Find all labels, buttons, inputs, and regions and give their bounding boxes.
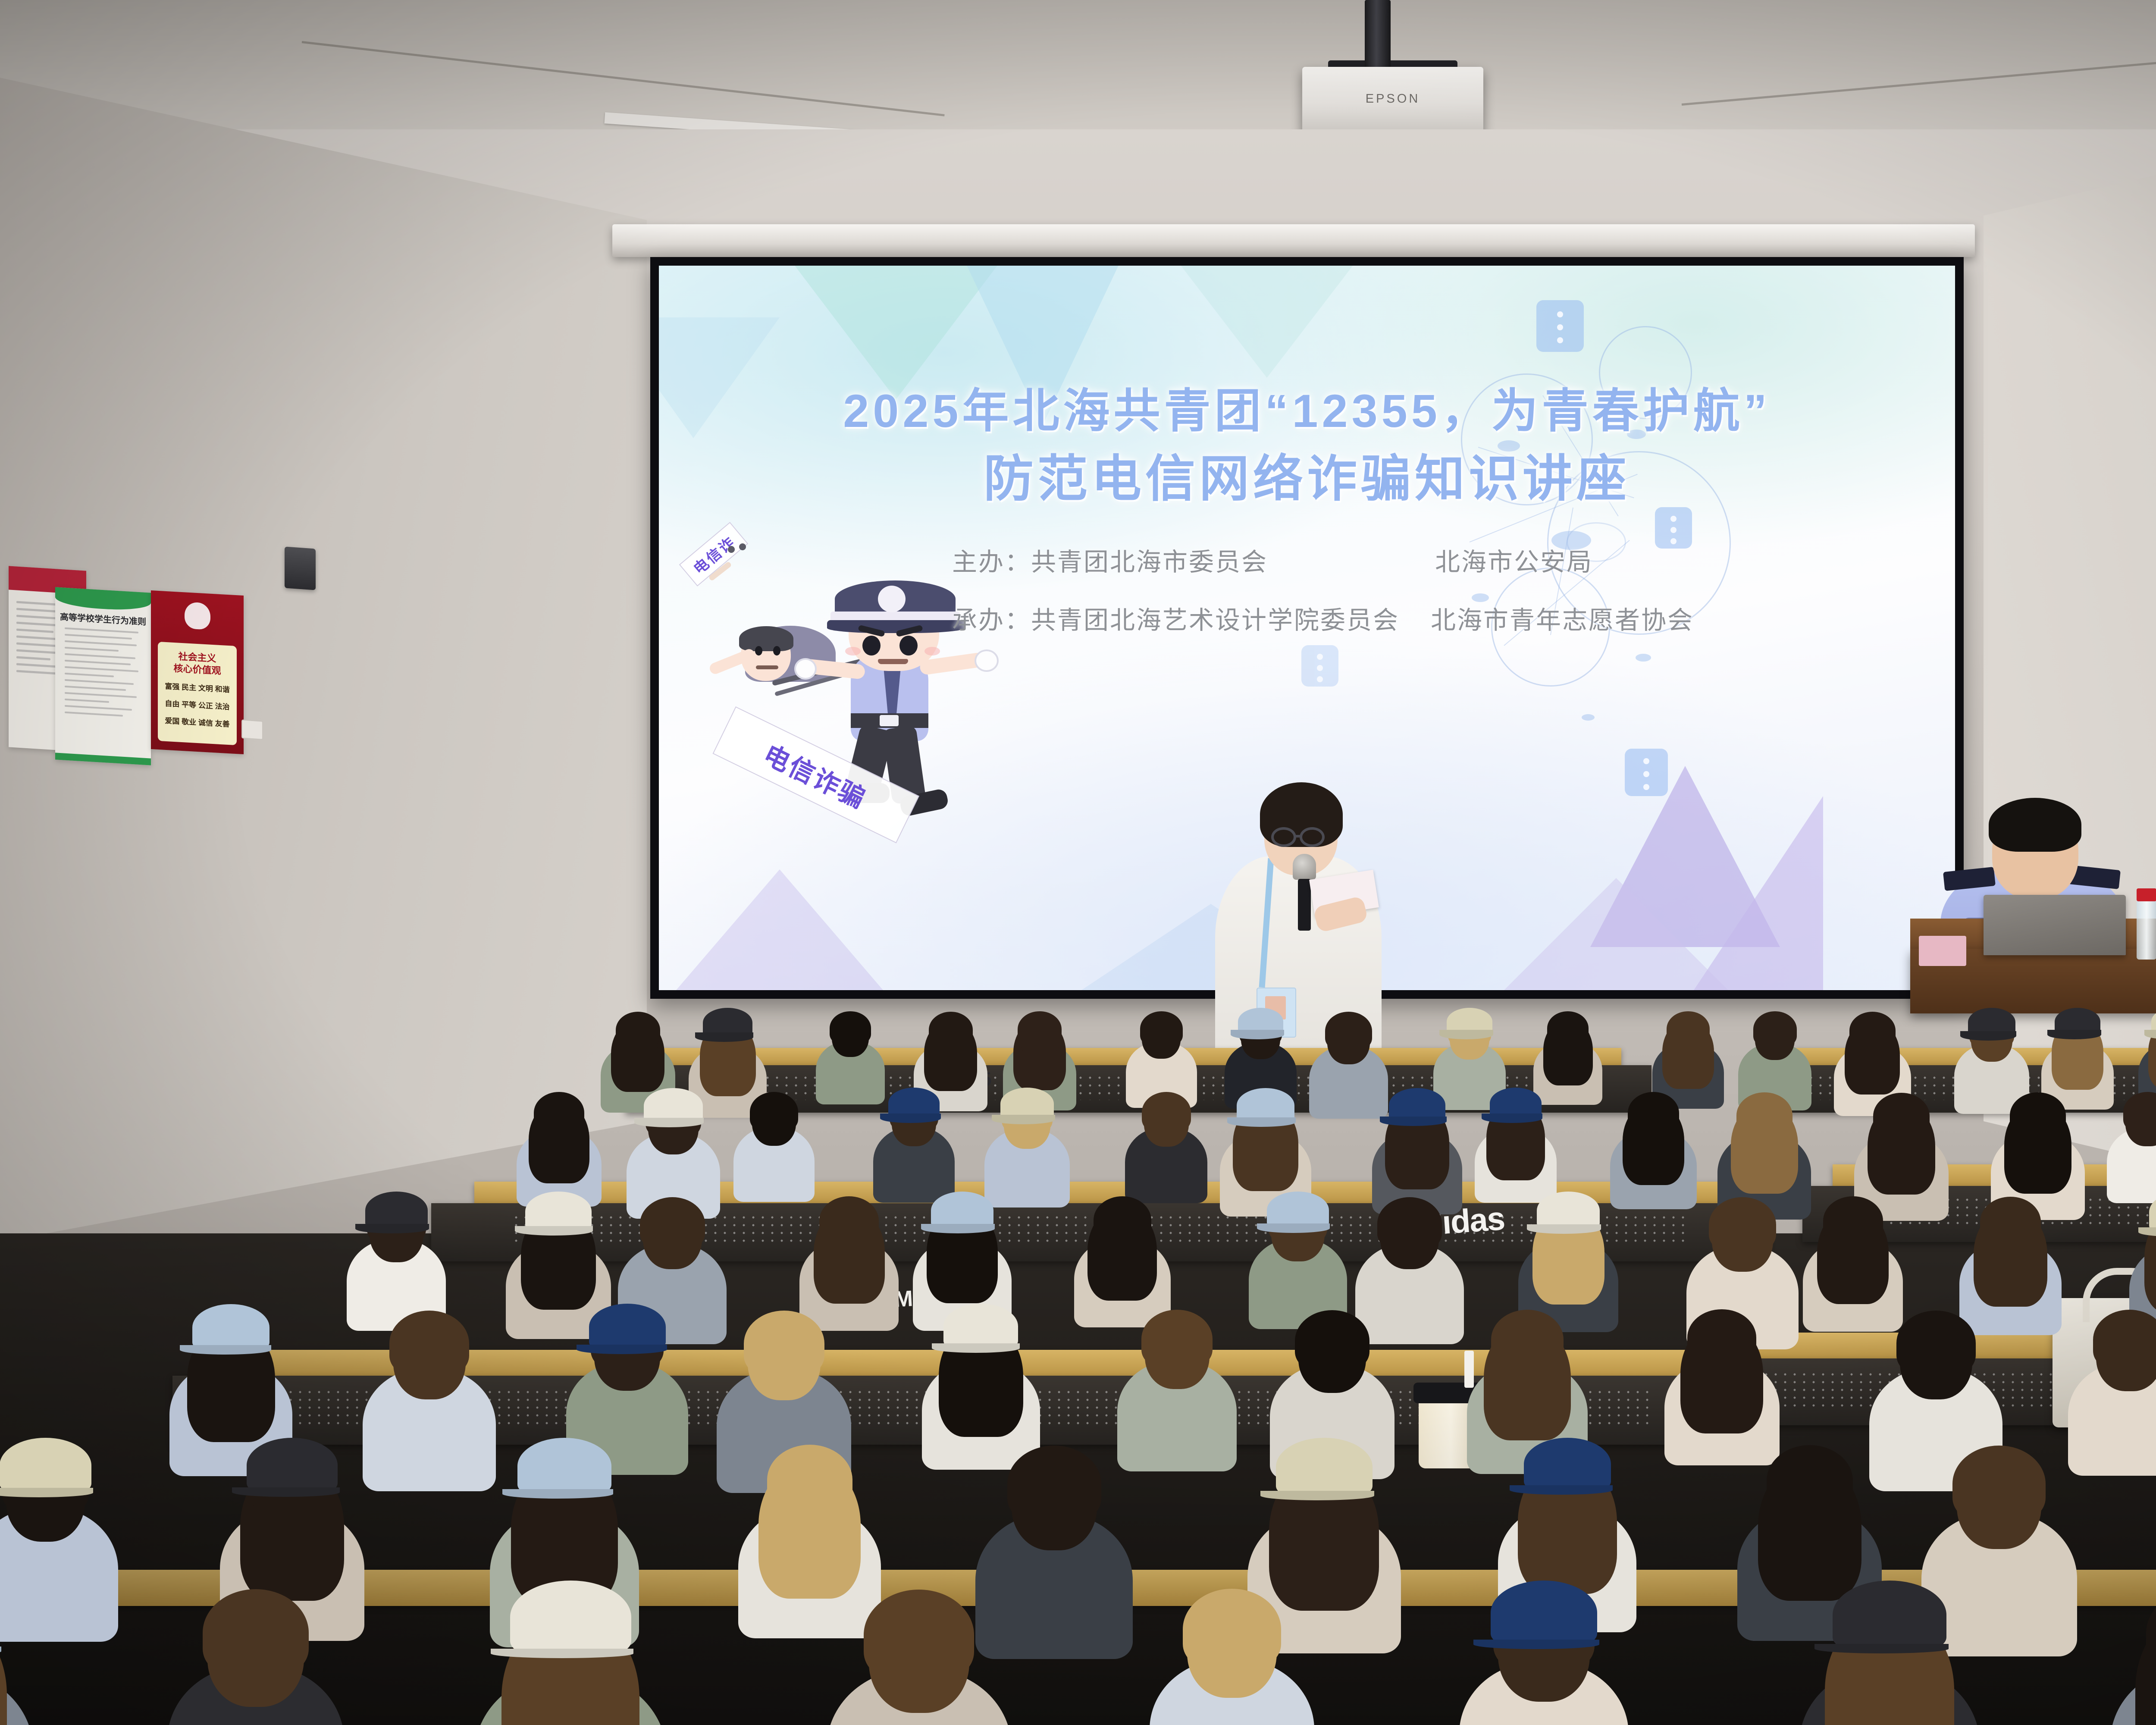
- slide-polygon-purple-3: [1504, 878, 1728, 990]
- audience-cap: [703, 1008, 752, 1038]
- host-glasses-bridge: [1295, 835, 1302, 837]
- poster-emblem-icon: [185, 602, 210, 630]
- audience-hair: [2010, 1092, 2066, 1138]
- poster-value-row-2: 自由 平等 公正 法治: [158, 697, 237, 712]
- slide-organizer-label-b: 北海市公安局: [1435, 542, 1593, 578]
- audience-cap: [365, 1192, 428, 1229]
- network-node: [1636, 654, 1651, 662]
- audience-hair: [1547, 1011, 1589, 1045]
- audience-cap: [1276, 1438, 1373, 1496]
- chip-icon: [1536, 300, 1584, 352]
- audience-cap: [0, 1438, 91, 1493]
- audience-hair: [750, 1092, 799, 1132]
- audience-hair: [1980, 1197, 2041, 1247]
- audience-cap: [1833, 1581, 1946, 1650]
- audience-hair: [1628, 1092, 1680, 1135]
- mascot-police-emblem-icon: [878, 586, 906, 612]
- audience-hair: [767, 1445, 852, 1515]
- projector: EPSON: [1302, 67, 1483, 134]
- audience-hair: [1142, 1092, 1191, 1132]
- microphone-head: [1293, 854, 1316, 880]
- audience-hair: [1873, 1093, 1930, 1139]
- audience-hair: [1896, 1311, 1976, 1376]
- laptop: [1984, 895, 2126, 955]
- audience-hair: [819, 1196, 879, 1245]
- audience-hair: [534, 1092, 584, 1134]
- audience-hair: [1018, 1011, 1061, 1048]
- microphone-body: [1298, 879, 1311, 931]
- speaker-icon-left: [285, 546, 316, 590]
- audience-cap: [931, 1192, 993, 1229]
- cup-straw: [1464, 1351, 1474, 1388]
- chip-icon: [1655, 507, 1692, 549]
- mascot-officer-cheek: [845, 647, 861, 655]
- projection-screen-case: [612, 224, 1975, 257]
- audience-hair: [1007, 1446, 1101, 1523]
- host-glasses-icon: [1271, 827, 1296, 847]
- audience-hair: [1140, 1011, 1183, 1046]
- mascot-officer-mouth: [878, 659, 908, 664]
- audience-cap: [2055, 1008, 2100, 1035]
- projector-brand-label: EPSON: [1302, 92, 1483, 106]
- audience-cap: [192, 1304, 269, 1351]
- poster-values-panel: 社会主义 核心价值观 富强 民主 文明 和谐 自由 平等 公正 法治 爱国 敬业…: [158, 642, 237, 745]
- mascot-scammer-hair: [739, 626, 793, 651]
- audience-hair: [1823, 1196, 1883, 1245]
- audience-cap: [943, 1304, 1018, 1349]
- audience-hair: [1849, 1012, 1896, 1050]
- mascot-motion-dot: [739, 543, 746, 550]
- anti-fraud-police-mascot: 电信诈: [685, 520, 969, 818]
- audience-cap: [1267, 1192, 1329, 1229]
- slide-title-line-2: 防范电信网络诈骗知识讲座: [659, 438, 1955, 511]
- audience-cap: [1389, 1088, 1446, 1123]
- audience-cap: [888, 1088, 940, 1119]
- audience-hair: [1141, 1310, 1213, 1368]
- audience-cap: [1000, 1088, 1054, 1120]
- slide-organizer-label: 主办：共青团北海市委员会: [952, 542, 1268, 578]
- poster-body-lines: [65, 627, 141, 723]
- audience-hair: [830, 1011, 871, 1045]
- slide-co-organizer-label: 承办：共青团北海艺术设计学院委员会: [952, 600, 1399, 636]
- audience-hair: [1667, 1011, 1709, 1047]
- audience-hair: [1767, 1445, 1853, 1516]
- slide-co-organizer-label-b: 北海市青年志愿者协会: [1431, 600, 1694, 636]
- poster-value-row-3: 爱国 敬业 诚信 友善: [158, 714, 237, 729]
- audience-hair: [1709, 1197, 1776, 1252]
- audience-hair: [864, 1590, 974, 1681]
- network-node: [1582, 714, 1595, 721]
- audience-cap: [1524, 1438, 1611, 1491]
- audience-hair: [203, 1589, 308, 1676]
- audience-cap: [510, 1581, 631, 1654]
- officer-hair: [1989, 798, 2081, 852]
- mascot-scammer-eye: [755, 646, 762, 655]
- audience-cap: [1968, 1008, 2015, 1037]
- host-glasses-icon: [1300, 827, 1325, 847]
- audience-hair: [640, 1197, 705, 1251]
- audience-cap: [1237, 1088, 1294, 1123]
- poster-red-values: 社会主义 核心价值观 富强 民主 文明 和谐 自由 平等 公正 法治 爱国 敬业…: [151, 590, 244, 754]
- audience-cap: [1238, 1008, 1283, 1035]
- audience-cap: [525, 1192, 591, 1232]
- mascot-officer-cheek: [924, 647, 940, 655]
- audience-hair: [1094, 1196, 1151, 1244]
- audience-cap: [247, 1438, 338, 1493]
- audience-hair: [929, 1012, 973, 1048]
- poster-green-title: 高等学校学生行为准则: [55, 609, 151, 627]
- slide-title-line-1: 2025年北海共青团“12355，为青春护航”: [659, 373, 1955, 441]
- slide-polygon-purple-left: [676, 869, 883, 990]
- audience-hair: [1183, 1589, 1281, 1670]
- audience-hair: [1952, 1446, 2046, 1522]
- audience-hair: [1753, 1011, 1797, 1048]
- poster-value-row-1: 富强 民主 文明 和谐: [158, 680, 237, 695]
- audience-cap: [1490, 1088, 1542, 1119]
- audience-hair: [1736, 1092, 1792, 1138]
- mascot-officer-buckle: [880, 715, 899, 726]
- audience-cap: [1447, 1008, 1492, 1035]
- mascot-scammer-eye: [773, 646, 780, 655]
- audience-hair: [1687, 1309, 1756, 1366]
- audience-cap: [517, 1438, 611, 1495]
- mascot-officer-glove: [975, 649, 999, 672]
- audience-hair: [616, 1012, 660, 1048]
- audience-hair: [1295, 1310, 1369, 1372]
- pink-folder: [1919, 936, 1966, 966]
- water-bottle-cap: [2137, 888, 2156, 901]
- audience-hair: [389, 1311, 469, 1377]
- mascot-scammer-mouth: [756, 665, 778, 669]
- audience-cap: [644, 1088, 702, 1124]
- slide-triangle-teal-2: [1168, 266, 1366, 378]
- audience-cap: [589, 1304, 666, 1350]
- audience-hair: [744, 1311, 824, 1377]
- mascot-officer-eye: [862, 636, 881, 655]
- mascot-officer-glove: [794, 658, 817, 680]
- audience-hair: [1377, 1197, 1442, 1251]
- audience-hair: [1491, 1310, 1564, 1369]
- lecture-hall-photo: EPSON 高等学校学生行为准则: [0, 0, 2156, 1725]
- audience-cap: [1491, 1581, 1598, 1645]
- audience-cap: [1537, 1192, 1600, 1230]
- audience-hair: [1325, 1012, 1372, 1051]
- audience-hair: [2093, 1310, 2156, 1370]
- poster-green: 高等学校学生行为准则: [55, 587, 151, 765]
- projector-mount-pole: [1365, 0, 1391, 71]
- mascot-officer-cap-brim: [827, 620, 965, 633]
- mascot-motion-dot: [728, 546, 735, 553]
- chip-icon: [1301, 645, 1338, 687]
- water-bottle: [2137, 897, 2156, 960]
- mascot-officer-eye: [899, 636, 918, 655]
- wall-socket-left: [241, 719, 263, 740]
